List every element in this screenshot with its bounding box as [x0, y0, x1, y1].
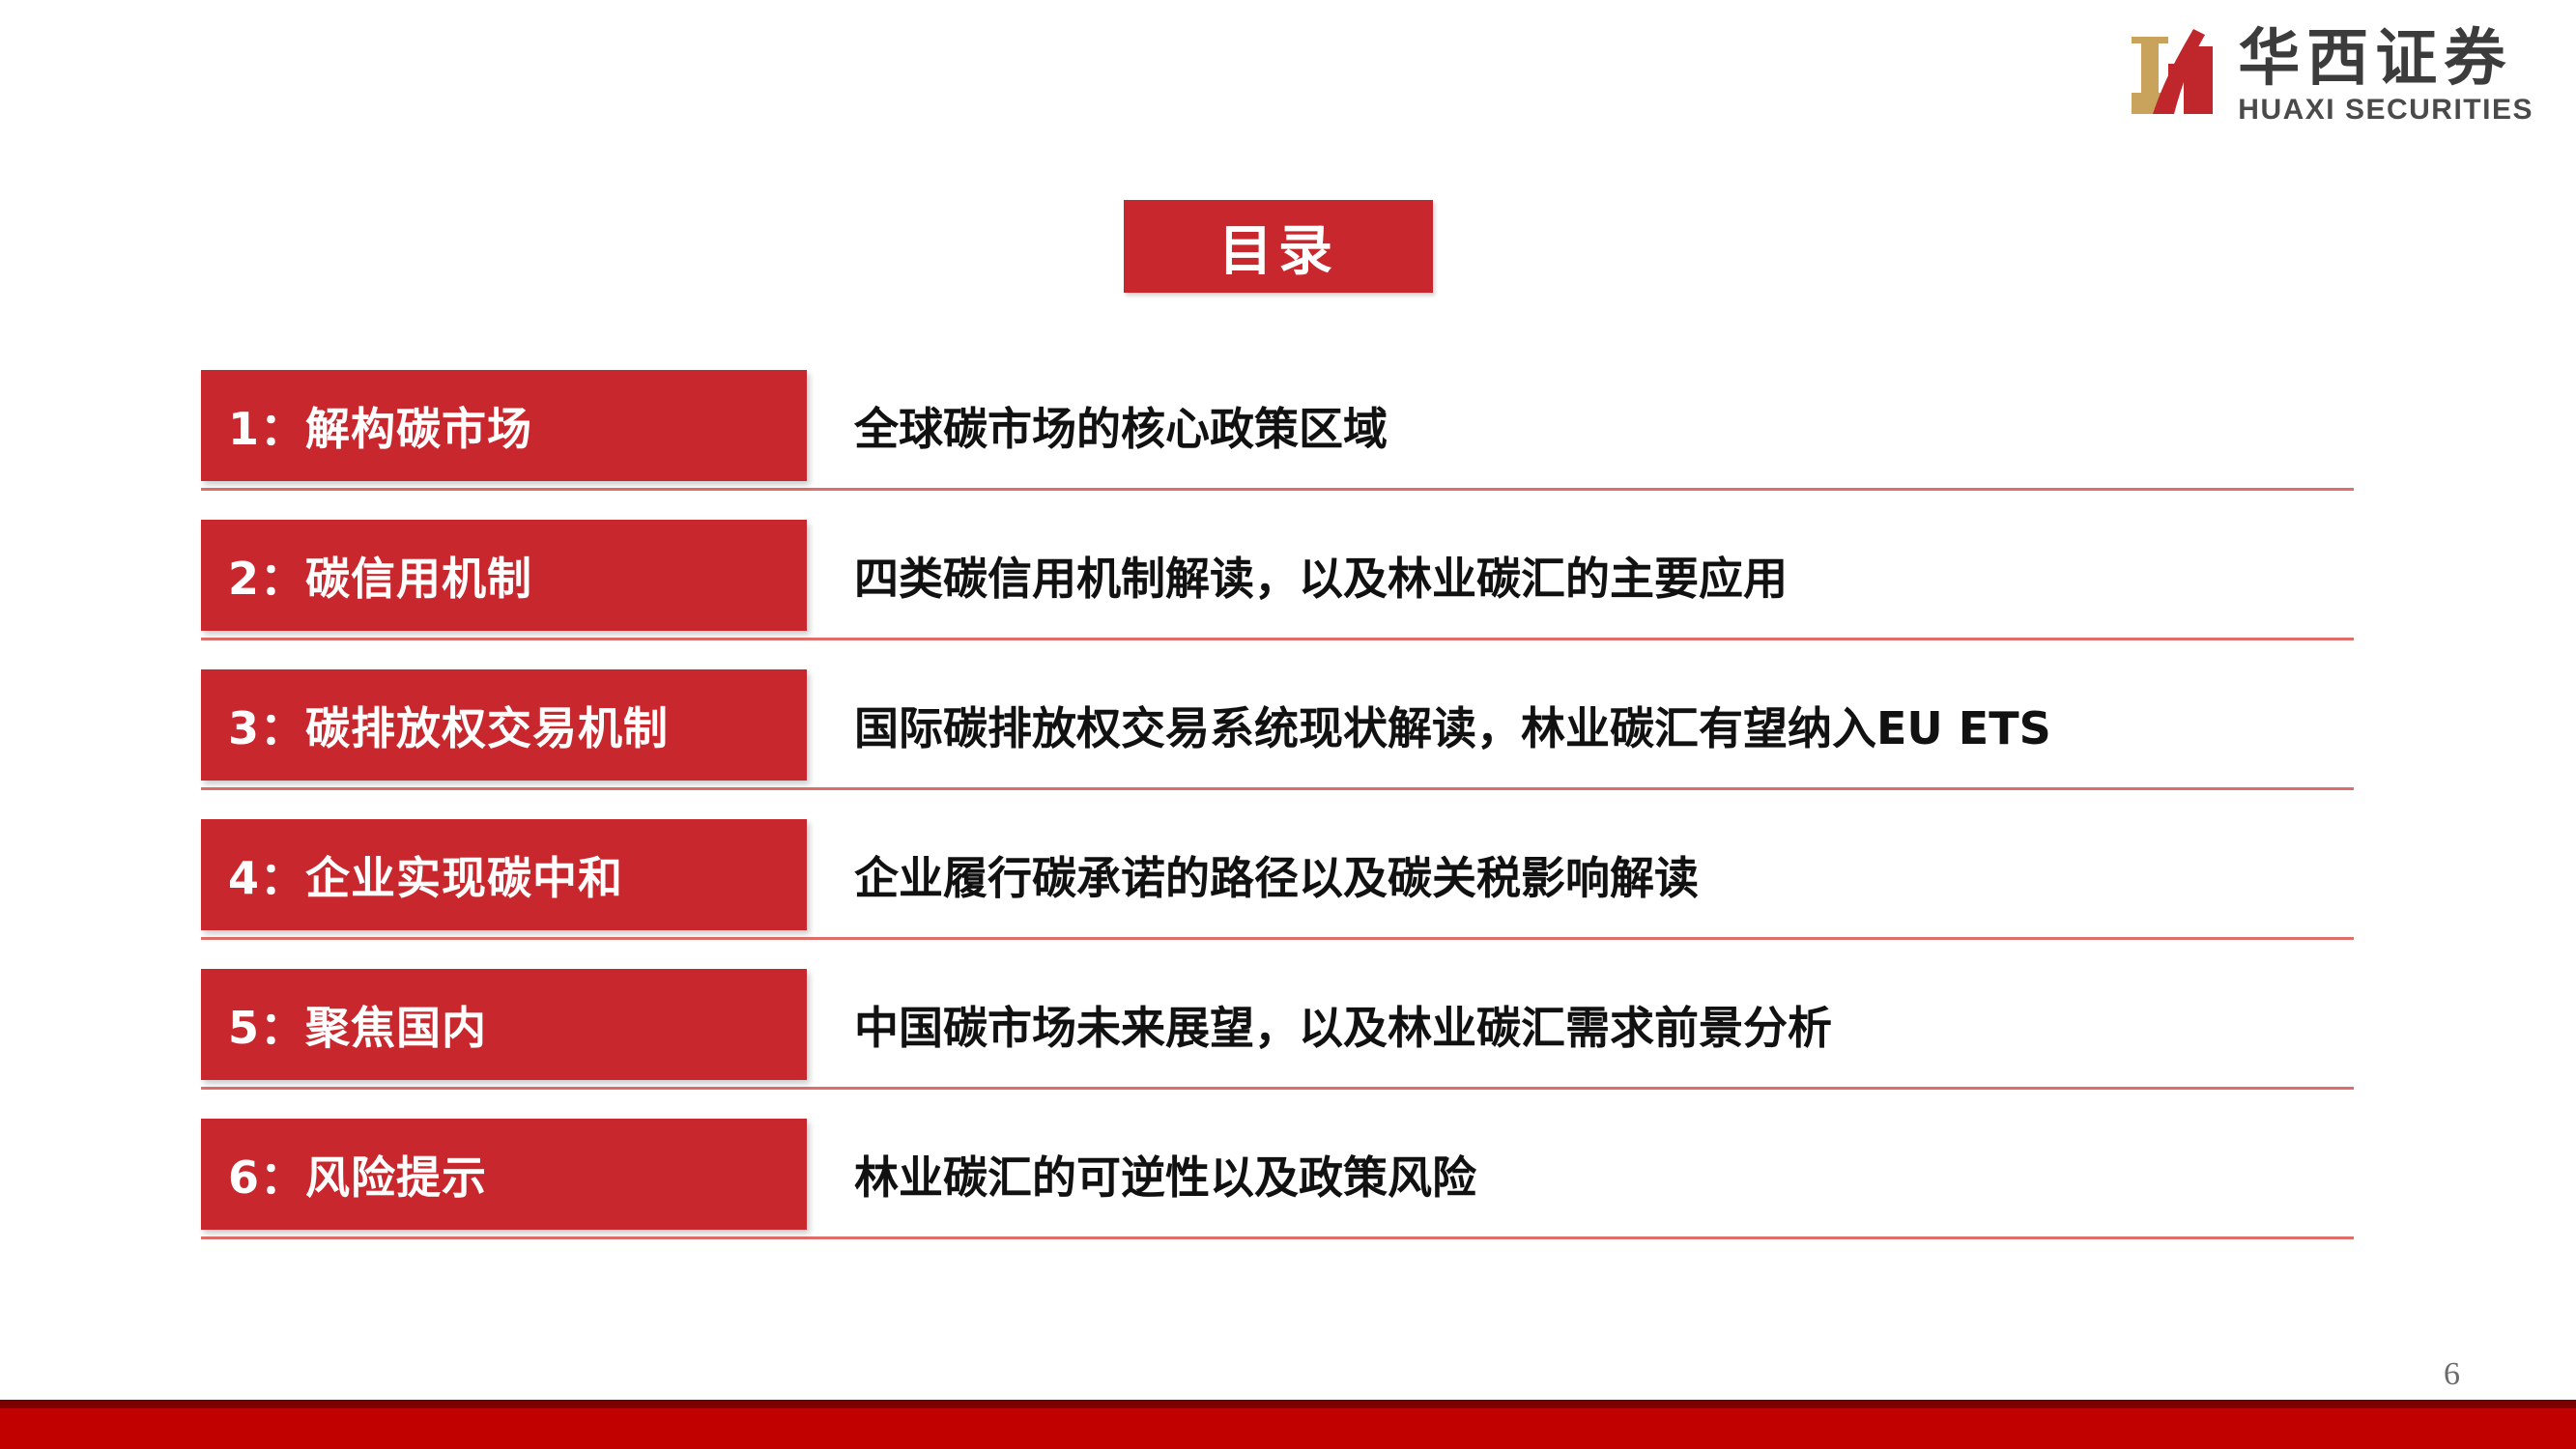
toc-description: 国际碳排放权交易系统现状解读，林业碳汇有望纳入EU ETS	[854, 669, 2051, 781]
toc-chip-label: 5：聚焦国内	[201, 993, 487, 1057]
toc-chip-1[interactable]: 1：解构碳市场	[201, 370, 807, 481]
toc-description: 企业履行碳承诺的路径以及碳关税影响解读	[854, 819, 1699, 930]
toc-chip-label: 4：企业实现碳中和	[201, 843, 623, 907]
toc-chip-2[interactable]: 2：碳信用机制	[201, 520, 807, 631]
toc-row-5[interactable]: 5：聚焦国内 中国碳市场未来展望，以及林业碳汇需求前景分析	[0, 964, 2576, 1114]
toc-description: 四类碳信用机制解读，以及林业碳汇的主要应用	[854, 520, 1788, 631]
brand-logo: 华西证券 HUAXI SECURITIES	[2130, 21, 2533, 127]
toc-chip-label: 6：风险提示	[201, 1143, 487, 1207]
row-divider	[201, 787, 2354, 790]
toc-row-3[interactable]: 3：碳排放权交易机制 国际碳排放权交易系统现状解读，林业碳汇有望纳入EU ETS	[0, 665, 2576, 814]
toc-description: 林业碳汇的可逆性以及政策风险	[854, 1119, 1476, 1230]
toc-description: 全球碳市场的核心政策区域	[854, 370, 1388, 481]
toc-row-4[interactable]: 4：企业实现碳中和 企业履行碳承诺的路径以及碳关税影响解读	[0, 814, 2576, 964]
toc-row-6[interactable]: 6：风险提示 林业碳汇的可逆性以及政策风险	[0, 1114, 2576, 1264]
footer-accent-bar	[0, 1400, 2576, 1408]
toc-chip-4[interactable]: 4：企业实现碳中和	[201, 819, 807, 930]
row-divider	[201, 937, 2354, 940]
logo-english-name: HUAXI SECURITIES	[2238, 94, 2533, 127]
row-divider	[201, 1236, 2354, 1239]
row-divider	[201, 638, 2354, 640]
logo-chinese-name: 华西证券	[2238, 27, 2533, 92]
toc-row-1[interactable]: 1：解构碳市场 全球碳市场的核心政策区域	[0, 365, 2576, 515]
huaxi-h-mark-icon	[2130, 21, 2217, 114]
toc-chip-label: 1：解构碳市场	[201, 394, 532, 458]
page-title-label: 目录	[1218, 208, 1338, 286]
table-of-contents: 1：解构碳市场 全球碳市场的核心政策区域 2：碳信用机制 四类碳信用机制解读，以…	[0, 365, 2576, 1264]
toc-chip-label: 2：碳信用机制	[201, 544, 532, 608]
toc-row-2[interactable]: 2：碳信用机制 四类碳信用机制解读，以及林业碳汇的主要应用	[0, 515, 2576, 665]
footer-bar	[0, 1408, 2576, 1449]
toc-description: 中国碳市场未来展望，以及林业碳汇需求前景分析	[854, 969, 1832, 1080]
toc-chip-6[interactable]: 6：风险提示	[201, 1119, 807, 1230]
page-number: 6	[2444, 1356, 2460, 1393]
toc-chip-label: 3：碳排放权交易机制	[201, 694, 669, 757]
toc-chip-3[interactable]: 3：碳排放权交易机制	[201, 669, 807, 781]
row-divider	[201, 1087, 2354, 1090]
toc-chip-5[interactable]: 5：聚焦国内	[201, 969, 807, 1080]
page-title: 目录	[1124, 200, 1433, 293]
row-divider	[201, 488, 2354, 491]
